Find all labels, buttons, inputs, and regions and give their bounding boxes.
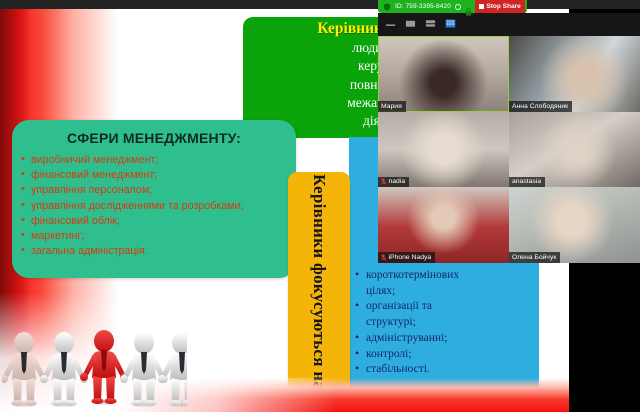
spheres-list: виробничий менеджмент; фінансовий менедж… (12, 153, 296, 259)
stop-square-icon (479, 4, 484, 9)
lock-icon[interactable] (465, 3, 472, 11)
list-item: організації та (355, 299, 529, 314)
participant-name-label: iPhone Nadya (378, 252, 435, 263)
zoom-video-panel: Мария Анна Слободяник (378, 13, 640, 263)
zoom-meeting-toolbar[interactable]: ID: 759-3395-8420 Stop Share (378, 0, 527, 13)
screen: Керівник (менеджер) людина, яка з керуюч… (0, 0, 640, 412)
participant-tile[interactable]: iPhone Nadya (378, 187, 509, 263)
list-item: управління дослідженнями та розробками; (20, 199, 288, 214)
participant-grid: Мария Анна Слободяник (378, 36, 640, 263)
participant-tile[interactable]: anastasia (509, 112, 640, 188)
list-item: загальна адміністрація. (20, 244, 288, 259)
participant-name-label: Анна Слободяник (509, 101, 572, 112)
shield-icon (383, 3, 391, 11)
list-item: контролі; (355, 347, 529, 362)
list-item: короткотермінових (355, 268, 529, 283)
list-item: адмініструванні; (355, 331, 529, 346)
participant-name: iPhone Nadya (389, 254, 432, 261)
participant-name: Мария (381, 103, 402, 110)
video-view-controls (378, 13, 640, 36)
stop-share-button[interactable]: Stop Share (475, 0, 525, 13)
muted-microphone-icon (381, 254, 386, 261)
participant-name: Анна Слободяник (512, 103, 568, 110)
meeting-id-label: ID: 759-3395-8420 (395, 3, 451, 10)
gallery-view-icon[interactable] (445, 16, 456, 34)
list-item: фінансовий менеджмент; (20, 168, 288, 183)
meeting-info-group[interactable]: ID: 759-3395-8420 (380, 0, 475, 13)
window-top-chrome (0, 0, 640, 9)
minimize-icon[interactable] (385, 16, 396, 34)
managers-focus-on-label: Керівники фокусуються на: (310, 174, 328, 396)
speaker-view-icon[interactable] (405, 16, 416, 34)
participant-name: anastasia (512, 178, 541, 185)
split-view-icon[interactable] (425, 16, 436, 34)
list-item: маркетинг; (20, 229, 288, 244)
list-item: фінансовий облік; (20, 214, 288, 229)
participant-name-label: nadia (378, 177, 409, 188)
people-holding-hands-illustration (2, 327, 187, 407)
spheres-box-title: СФЕРИ МЕНЕДЖМЕНТУ: (12, 130, 296, 146)
list-item: управління персоналом; (20, 183, 288, 198)
muted-microphone-icon (381, 178, 386, 185)
managers-focus-on-box: Керівники фокусуються на: (288, 172, 350, 399)
list-item: виробничий менеджмент; (20, 153, 288, 168)
list-item: структурі; (355, 315, 529, 330)
participant-name: Олена Бойчук (512, 254, 556, 261)
participant-tile[interactable]: nadia (378, 112, 509, 188)
participant-tile[interactable]: Анна Слободяник (509, 36, 640, 112)
participant-name-label: Мария (378, 101, 406, 112)
stop-share-label: Stop Share (486, 3, 520, 10)
participant-tile[interactable]: Олена Бойчук (509, 187, 640, 263)
list-item: стабільності. (355, 362, 529, 377)
list-item: цілях; (355, 284, 529, 299)
participant-tile[interactable]: Мария (378, 36, 509, 112)
participant-name-label: anastasia (509, 177, 545, 188)
participant-name-label: Олена Бойчук (509, 252, 560, 263)
spheres-of-management-box: СФЕРИ МЕНЕДЖМЕНТУ: виробничий менеджмент… (12, 120, 296, 278)
participant-name: nadia (389, 178, 406, 185)
record-circle-icon[interactable] (455, 4, 461, 10)
